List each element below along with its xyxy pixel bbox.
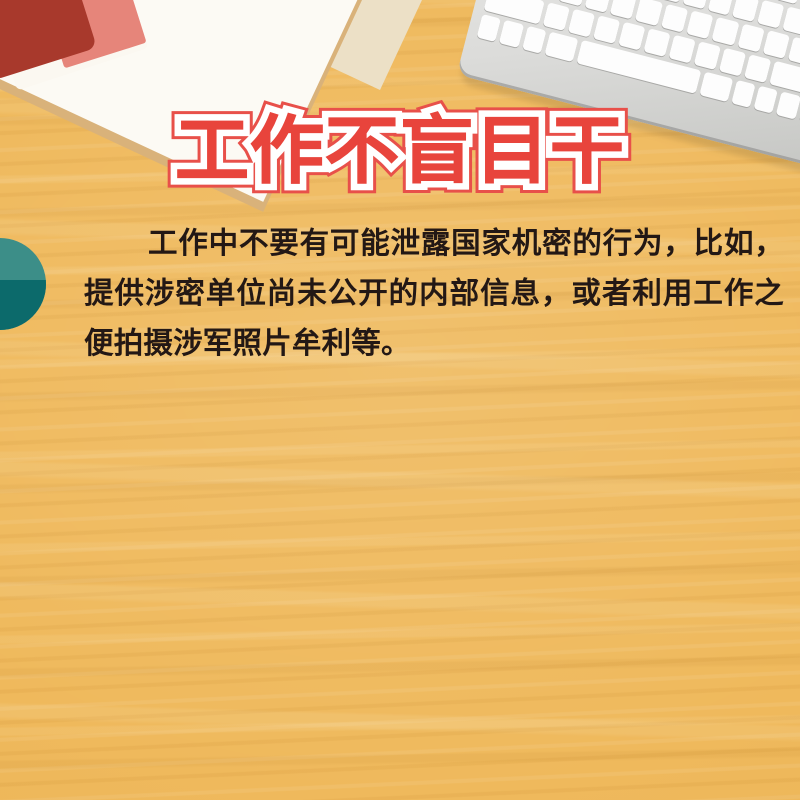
keyboard-key bbox=[593, 15, 620, 44]
keyboard-key bbox=[610, 0, 638, 19]
keyboard-key bbox=[661, 4, 689, 33]
keyboard-key bbox=[682, 0, 709, 9]
keyboard-key bbox=[757, 0, 784, 29]
keyboard-key bbox=[763, 30, 791, 59]
keyboard-key-alt-right bbox=[731, 80, 756, 108]
keyboard-key bbox=[686, 10, 714, 39]
poster-title: 工作不盲目干 工作不盲目干 工作不盲目干 bbox=[175, 108, 625, 194]
keyboard-key bbox=[568, 9, 595, 38]
keyboard-key bbox=[635, 0, 663, 26]
keyboard-key bbox=[618, 22, 645, 51]
headline-container: 工作不盲目干 工作不盲目干 工作不盲目干 bbox=[0, 108, 800, 194]
keyboard-key bbox=[782, 6, 800, 35]
keyboard-key bbox=[707, 0, 734, 16]
keyboard-key bbox=[668, 35, 695, 64]
keyboard-key bbox=[543, 2, 570, 31]
keyboard-key bbox=[719, 48, 746, 77]
poster-body-text: 工作中不要有可能泄露国家机密的行为，比如，提供涉密单位尚未公开的内部信息，或者利… bbox=[84, 218, 784, 368]
keyboard-key-cmd bbox=[544, 32, 578, 62]
keyboard-key bbox=[584, 0, 612, 13]
keyboard-key bbox=[744, 54, 771, 83]
keyboard-key bbox=[694, 41, 721, 70]
keyboard-key bbox=[712, 17, 740, 46]
keyboard-key-cmd-right bbox=[699, 72, 733, 102]
keyboard-key bbox=[643, 28, 670, 57]
keyboard-key bbox=[737, 24, 765, 53]
keyboard-key-ctrl bbox=[499, 20, 524, 48]
keyboard-key-fn bbox=[477, 14, 502, 42]
poster-title-text: 工作不盲目干 bbox=[175, 108, 625, 194]
keyboard-key-alt bbox=[522, 26, 547, 54]
poster-canvas: 工作不盲目干 工作不盲目干 工作不盲目干 工作中不要有可能泄露国家机密的行为，比… bbox=[0, 0, 800, 800]
teal-circle-blob-lower bbox=[0, 280, 46, 330]
keyboard-key bbox=[732, 0, 759, 22]
